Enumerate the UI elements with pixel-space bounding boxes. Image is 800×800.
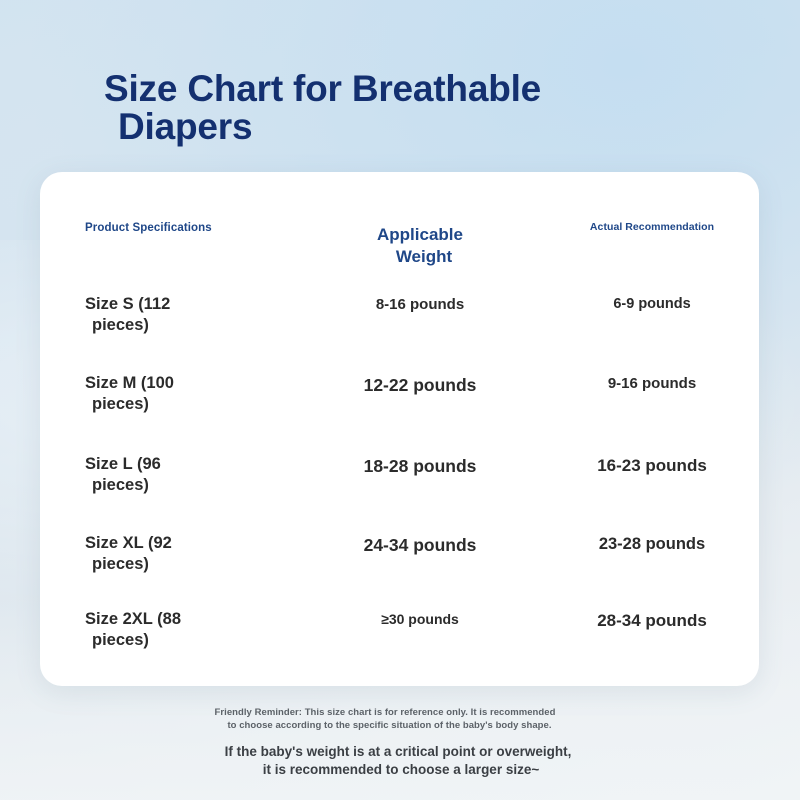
cell-applicable-weight: 24-34 pounds [312, 535, 528, 556]
cell-actual-recommendation: 28-34 pounds [548, 611, 756, 631]
spec-line1: Size S (112 [85, 295, 170, 313]
footer: Friendly Reminder: This size chart is fo… [0, 706, 800, 778]
cell-actual-recommendation: 9-16 pounds [548, 375, 756, 392]
size-chart-page: Size Chart for Breathable Diapers Produc… [0, 0, 800, 800]
size-chart-table: Product Specifications Applicable Weight… [40, 172, 759, 686]
cell-applicable-weight: ≥30 pounds [312, 611, 528, 627]
friendly-reminder-line1: Friendly Reminder: This size chart is fo… [215, 707, 556, 718]
size-chart-card: Product Specifications Applicable Weight… [40, 172, 759, 686]
column-header-applicable-weight-line1: Applicable [377, 225, 463, 244]
spec-line1: Size 2XL (88 [85, 610, 181, 628]
cell-product-specification: Size XL (92 pieces) [85, 533, 305, 574]
spec-line2: pieces) [85, 475, 305, 496]
spec-line2: pieces) [85, 554, 305, 575]
spec-line1: Size M (100 [85, 374, 174, 392]
column-header-product-specifications: Product Specifications [85, 222, 305, 234]
column-header-actual-recommendation: Actual Recommendation [548, 221, 756, 233]
cell-product-specification: Size S (112 pieces) [85, 294, 305, 335]
cell-product-specification: Size L (96 pieces) [85, 454, 305, 495]
spec-line2: pieces) [85, 315, 305, 336]
spec-line1: Size L (96 [85, 455, 161, 473]
cell-product-specification: Size 2XL (88 pieces) [85, 609, 305, 650]
cell-applicable-weight: 18-28 pounds [312, 456, 528, 477]
page-title: Size Chart for Breathable Diapers [104, 70, 724, 147]
spec-line2: pieces) [85, 394, 305, 415]
column-header-applicable-weight-line2: Weight [312, 246, 528, 268]
sizing-advice-note: If the baby's weight is at a critical po… [0, 743, 798, 778]
page-title-line2: Diapers [104, 108, 724, 146]
friendly-reminder-line2: to choose according to the specific situ… [0, 719, 785, 732]
cell-applicable-weight: 12-22 pounds [312, 375, 528, 396]
page-title-line1: Size Chart for Breathable [104, 68, 541, 109]
cell-actual-recommendation: 16-23 pounds [548, 456, 756, 476]
cell-product-specification: Size M (100 pieces) [85, 373, 305, 414]
spec-line2: pieces) [85, 630, 305, 651]
sizing-advice-line1: If the baby's weight is at a critical po… [225, 744, 572, 759]
sizing-advice-line2: it is recommended to choose a larger siz… [0, 761, 798, 779]
spec-line1: Size XL (92 [85, 534, 172, 552]
column-header-applicable-weight: Applicable Weight [312, 224, 528, 268]
cell-actual-recommendation: 6-9 pounds [548, 296, 756, 312]
cell-applicable-weight: 8-16 pounds [312, 296, 528, 313]
friendly-reminder-note: Friendly Reminder: This size chart is fo… [0, 706, 785, 733]
cell-actual-recommendation: 23-28 pounds [548, 535, 756, 554]
